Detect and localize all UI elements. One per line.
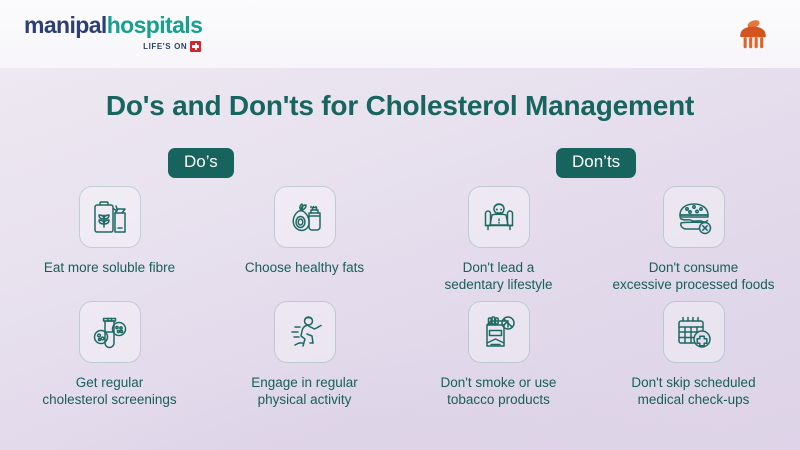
section-badge-donts: Don’ts <box>556 148 636 178</box>
list-item-label: Don't lead a sedentary lifestyle <box>444 259 552 294</box>
logo-tagline: LIFE'S ON <box>143 42 187 51</box>
list-item-label: Don't consume excessive processed foods <box>612 259 774 294</box>
logo-wordmark: manipalhospitals <box>24 14 202 37</box>
list-item-label: Choose healthy fats <box>245 259 364 276</box>
infographic-page: manipalhospitals LIFE'S ON Do's and Don'… <box>0 0 800 450</box>
list-item-label: Don't skip scheduled medical check-ups <box>631 374 755 409</box>
header-bar: manipalhospitals LIFE'S ON <box>0 0 800 68</box>
list-item-label: Don't smoke or use tobacco products <box>441 374 557 409</box>
page-title: Do's and Don'ts for Cholesterol Manageme… <box>0 90 800 122</box>
list-item[interactable]: Engage in regular physical activity <box>207 301 402 409</box>
manipal-hospitals-logo[interactable]: manipalhospitals LIFE'S ON <box>24 14 202 52</box>
list-item[interactable]: Don't smoke or use tobacco products <box>401 301 596 409</box>
cigarette-pack-prohibited-icon <box>468 301 530 363</box>
list-item[interactable]: Don't skip scheduled medical check-ups <box>596 301 791 409</box>
list-item[interactable]: Don't lead a sedentary lifestyle <box>401 186 596 294</box>
list-item[interactable]: Eat more soluble fibre <box>12 186 207 276</box>
logo-word-manipal: manipal <box>24 12 107 38</box>
running-person-icon <box>274 301 336 363</box>
logo-word-hospitals: hospitals <box>107 12 203 38</box>
list-item-label: Engage in regular physical activity <box>251 374 358 409</box>
calendar-medical-cross-icon <box>663 301 725 363</box>
avocado-oil-bottle-icon <box>274 186 336 248</box>
list-item[interactable]: Choose healthy fats <box>207 186 402 276</box>
red-cross-icon <box>190 41 201 52</box>
logo-tagline-row: LIFE'S ON <box>24 41 202 52</box>
blood-test-tube-icon <box>79 301 141 363</box>
list-item[interactable]: Get regular cholesterol screenings <box>12 301 207 409</box>
cereal-box-grain-icon <box>79 186 141 248</box>
orange-brandmark-icon <box>734 16 772 54</box>
list-item-label: Get regular cholesterol screenings <box>42 374 176 409</box>
burger-prohibited-icon <box>663 186 725 248</box>
section-badge-dos: Do’s <box>168 148 234 178</box>
list-item[interactable]: Don't consume excessive processed foods <box>596 186 791 294</box>
list-item-label: Eat more soluble fibre <box>44 259 175 276</box>
person-sitting-couch-icon <box>468 186 530 248</box>
